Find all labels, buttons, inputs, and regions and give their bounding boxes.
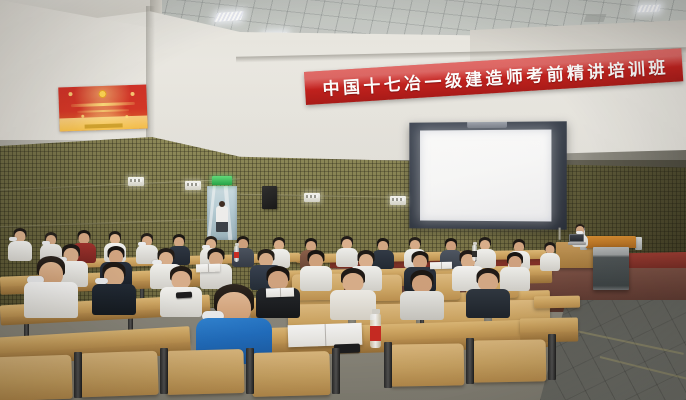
smartphone (176, 292, 192, 299)
laptop-screen (569, 234, 584, 242)
poster-star-icon (81, 115, 84, 118)
torso (24, 282, 78, 318)
torso (466, 289, 510, 318)
wall-sconce-light-icon (304, 193, 320, 202)
poster-star-icon (125, 115, 128, 118)
lectern-side-panel (635, 237, 642, 250)
chair-foreground (472, 339, 547, 382)
poster-text-line (71, 102, 134, 107)
bottle-label (370, 326, 381, 341)
attendee (540, 242, 560, 270)
person-in-doorway (216, 206, 228, 232)
laptop-base (568, 242, 586, 245)
water-bottle (472, 245, 477, 261)
poster-text-line (77, 109, 130, 113)
projection-screen-frame (409, 121, 566, 229)
poster-star-icon (130, 92, 134, 96)
chair-standard (466, 338, 474, 384)
chair-standard (384, 342, 392, 388)
attendee (92, 262, 136, 314)
poster-emblem-icon (98, 90, 106, 98)
chair-foreground (0, 355, 73, 400)
chair-foreground (251, 351, 330, 397)
attendee-foreground-left (24, 256, 78, 316)
screen-pull-cord (559, 228, 561, 240)
wall-corner-shadow (146, 6, 155, 156)
attendee (400, 270, 444, 318)
chair-standard (332, 348, 340, 394)
torso (540, 253, 560, 271)
door-glass-stripe (207, 186, 216, 240)
wall-sconce-light-icon (185, 181, 201, 190)
chair-standard (548, 334, 556, 380)
chair-standard (246, 348, 254, 394)
lectern-body (593, 247, 629, 290)
water-bottle (370, 314, 381, 348)
attendee (330, 268, 376, 318)
ceiling-vent-icon (584, 14, 607, 22)
bottle-cap (372, 309, 380, 314)
projection-screen-surface (420, 130, 551, 222)
chair-standard (74, 352, 82, 398)
torso (300, 266, 332, 291)
bottle-label (472, 251, 477, 257)
torso (400, 291, 444, 320)
desk-aisle-edge (534, 296, 580, 309)
water-bottle (234, 246, 239, 262)
lectern-podium (586, 236, 636, 290)
open-book (430, 262, 452, 269)
wall-speaker-icon (262, 186, 277, 209)
exit-sign-icon (212, 176, 232, 185)
instructor-laptop (568, 234, 586, 245)
desk-aisle-edge (520, 317, 578, 333)
lecture-hall-photo: 中国十七冶一级建造师考前精讲培训班 (0, 0, 686, 400)
poster-star-icon (68, 92, 72, 96)
ceiling-light-panel-icon (637, 5, 661, 13)
attendee (466, 268, 510, 316)
bottle-label (234, 252, 239, 258)
screen-roller-housing (467, 122, 507, 128)
torso (92, 284, 136, 315)
chair-foreground (165, 349, 244, 395)
red-gold-poster (58, 84, 147, 131)
chair-foreground (79, 351, 158, 398)
side-doorway (207, 186, 237, 240)
wall-sconce-light-icon (390, 196, 406, 205)
chair-standard (160, 348, 168, 394)
open-book (196, 264, 220, 273)
bottle-cap (235, 243, 239, 246)
chair-foreground (390, 343, 465, 386)
bottle-cap (473, 242, 477, 245)
wall-sconce-light-icon (128, 177, 144, 186)
attendee (300, 250, 332, 290)
